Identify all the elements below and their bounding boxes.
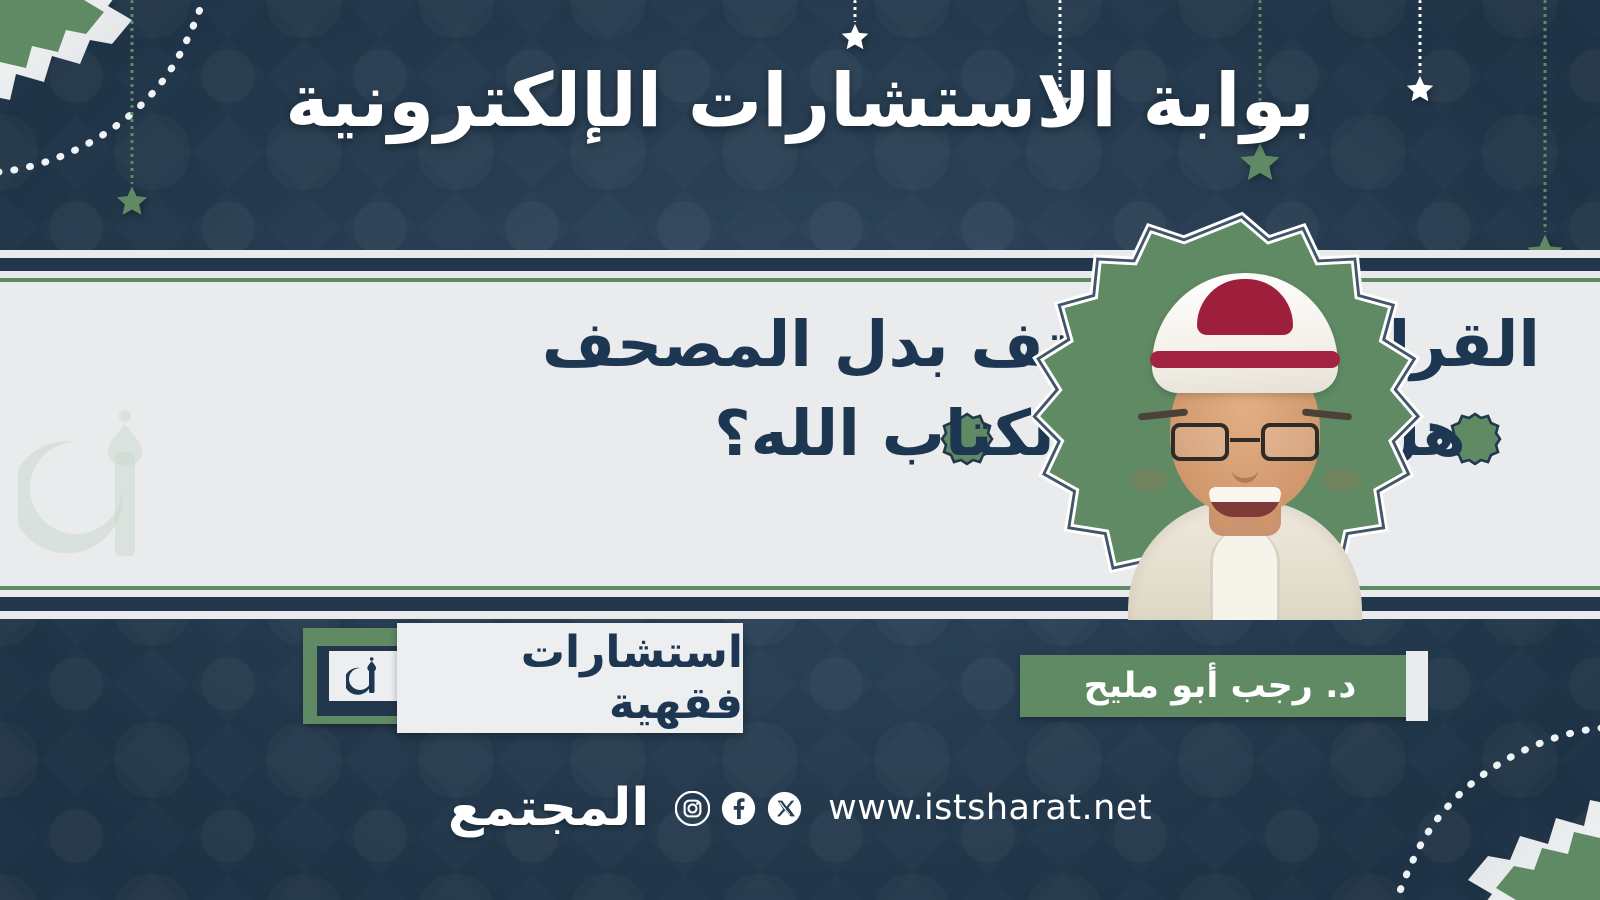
star-string <box>854 0 857 22</box>
name-badge-accent <box>1406 651 1428 721</box>
speaker-portrait <box>1032 205 1452 625</box>
x-twitter-icon[interactable] <box>767 791 802 826</box>
page-title: بوابة الاستشارات الإلكترونية <box>0 55 1600 148</box>
speaker-name: د. رجب أبو مليح <box>1084 666 1357 706</box>
mosque-crescent-icon <box>346 656 386 696</box>
instagram-icon[interactable] <box>675 791 710 826</box>
poster-canvas: بوابة الاستشارات الإلكترونية القراءة من … <box>0 0 1600 900</box>
hanging-star-1 <box>825 0 885 60</box>
social-links <box>675 791 802 826</box>
program-badge: استشارات فقهية <box>303 623 743 733</box>
footer-brand-logo: المجتمع <box>448 782 649 834</box>
website-url[interactable]: www.istsharat.net <box>828 788 1152 828</box>
star-shape-icon <box>840 22 870 52</box>
star-shape-icon <box>115 184 149 218</box>
program-badge-icon-box <box>329 651 403 701</box>
program-badge-label-panel: استشارات فقهية <box>397 623 743 733</box>
facebook-icon[interactable] <box>721 791 756 826</box>
speaker-name-badge: د. رجب أبو مليح <box>1020 655 1420 717</box>
program-badge-label: استشارات فقهية <box>397 627 743 729</box>
speaker-photo <box>1116 255 1374 620</box>
footer: المجتمع www.istsharat.net <box>0 782 1600 834</box>
